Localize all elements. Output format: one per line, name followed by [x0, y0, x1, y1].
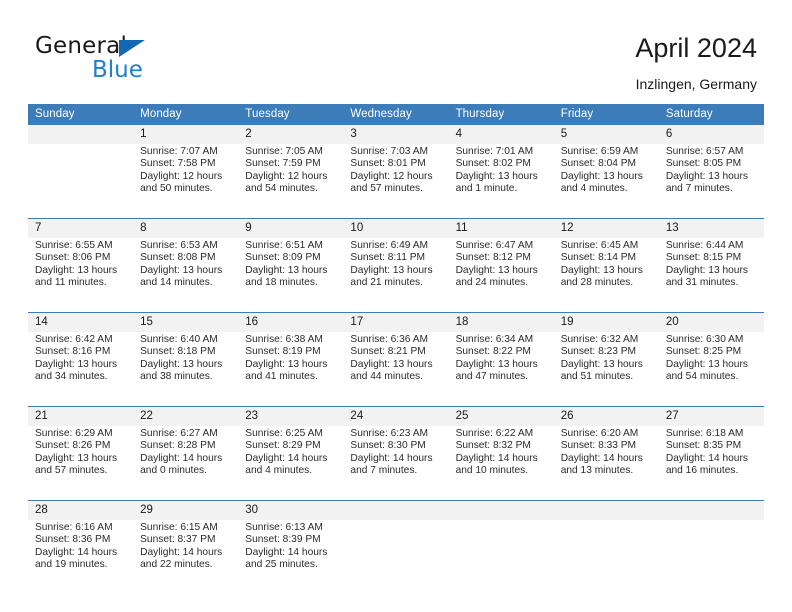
- sunset-text: Sunset: 8:37 PM: [140, 534, 234, 546]
- daylight-text-line1: Daylight: 13 hours: [561, 265, 655, 277]
- day-number-cell[interactable]: 15: [133, 313, 238, 333]
- daylight-text-line2: and 47 minutes.: [456, 371, 550, 383]
- day-number-cell[interactable]: 16: [238, 313, 343, 333]
- sunset-text: Sunset: 7:59 PM: [245, 158, 339, 170]
- daylight-text-line1: Daylight: 13 hours: [456, 359, 550, 371]
- week-info-row: Sunrise: 6:55 AM Sunset: 8:06 PM Dayligh…: [28, 238, 764, 313]
- sunset-text: Sunset: 8:01 PM: [350, 158, 444, 170]
- day-detail-cell: Sunrise: 6:57 AM Sunset: 8:05 PM Dayligh…: [659, 144, 764, 219]
- sunrise-text: Sunrise: 6:51 AM: [245, 240, 339, 252]
- day-number-cell[interactable]: 28: [28, 501, 133, 521]
- daylight-text-line1: Daylight: 13 hours: [666, 265, 760, 277]
- daylight-text-line2: and 7 minutes.: [666, 183, 760, 195]
- daylight-text-line1: Daylight: 13 hours: [350, 265, 444, 277]
- day-detail-cell: Sunrise: 6:27 AM Sunset: 8:28 PM Dayligh…: [133, 426, 238, 501]
- week-info-row: Sunrise: 6:16 AM Sunset: 8:36 PM Dayligh…: [28, 520, 764, 594]
- day-detail-cell: Sunrise: 6:49 AM Sunset: 8:11 PM Dayligh…: [343, 238, 448, 313]
- sunset-text: Sunset: 8:11 PM: [350, 252, 444, 264]
- daylight-text-line2: and 1 minute.: [456, 183, 550, 195]
- daylight-text-line1: Daylight: 14 hours: [140, 453, 234, 465]
- day-detail-cell: Sunrise: 6:30 AM Sunset: 8:25 PM Dayligh…: [659, 332, 764, 407]
- day-detail-cell: Sunrise: 6:32 AM Sunset: 8:23 PM Dayligh…: [554, 332, 659, 407]
- day-number-cell[interactable]: 5: [554, 125, 659, 144]
- day-detail-cell: Sunrise: 6:44 AM Sunset: 8:15 PM Dayligh…: [659, 238, 764, 313]
- sunrise-text: Sunrise: 6:40 AM: [140, 334, 234, 346]
- day-detail-cell: Sunrise: 6:16 AM Sunset: 8:36 PM Dayligh…: [28, 520, 133, 594]
- sunrise-text: Sunrise: 6:23 AM: [350, 428, 444, 440]
- daylight-text-line2: and 13 minutes.: [561, 465, 655, 477]
- daylight-text-line2: and 18 minutes.: [245, 277, 339, 289]
- weekday-header-monday: Monday: [133, 104, 238, 125]
- sunset-text: Sunset: 8:39 PM: [245, 534, 339, 546]
- daylight-text-line2: and 41 minutes.: [245, 371, 339, 383]
- day-number-cell[interactable]: 11: [449, 219, 554, 239]
- daylight-text-line2: and 38 minutes.: [140, 371, 234, 383]
- sunset-text: Sunset: 8:21 PM: [350, 346, 444, 358]
- daylight-text-line1: Daylight: 14 hours: [35, 547, 129, 559]
- day-number-cell[interactable]: 26: [554, 407, 659, 427]
- daylight-text-line2: and 14 minutes.: [140, 277, 234, 289]
- daylight-text-line2: and 31 minutes.: [666, 277, 760, 289]
- day-detail-cell: Sunrise: 6:15 AM Sunset: 8:37 PM Dayligh…: [133, 520, 238, 594]
- logo-triangle-icon: [119, 40, 145, 57]
- day-number-cell[interactable]: 27: [659, 407, 764, 427]
- sunset-text: Sunset: 8:09 PM: [245, 252, 339, 264]
- day-number-cell[interactable]: 8: [133, 219, 238, 239]
- day-detail-cell: Sunrise: 6:42 AM Sunset: 8:16 PM Dayligh…: [28, 332, 133, 407]
- calendar-header-row: Sunday Monday Tuesday Wednesday Thursday…: [28, 104, 764, 125]
- sunset-text: Sunset: 8:02 PM: [456, 158, 550, 170]
- day-number-cell[interactable]: 2: [238, 125, 343, 144]
- day-detail-cell: Sunrise: 7:07 AM Sunset: 7:58 PM Dayligh…: [133, 144, 238, 219]
- daylight-text-line1: Daylight: 14 hours: [245, 547, 339, 559]
- sunset-text: Sunset: 8:29 PM: [245, 440, 339, 452]
- daylight-text-line2: and 57 minutes.: [35, 465, 129, 477]
- daylight-text-line2: and 34 minutes.: [35, 371, 129, 383]
- day-detail-cell: Sunrise: 6:22 AM Sunset: 8:32 PM Dayligh…: [449, 426, 554, 501]
- daylight-text-line1: Daylight: 14 hours: [666, 453, 760, 465]
- day-number-cell[interactable]: 30: [238, 501, 343, 521]
- calendar-page: General Blue April 2024 Inzlingen, Germa…: [0, 0, 792, 612]
- daylight-text-line2: and 25 minutes.: [245, 559, 339, 571]
- daylight-text-line1: Daylight: 13 hours: [245, 359, 339, 371]
- daylight-text-line2: and 7 minutes.: [350, 465, 444, 477]
- week-info-row: Sunrise: 6:42 AM Sunset: 8:16 PM Dayligh…: [28, 332, 764, 407]
- sunset-text: Sunset: 8:12 PM: [456, 252, 550, 264]
- daylight-text-line1: Daylight: 12 hours: [350, 171, 444, 183]
- sunrise-text: Sunrise: 6:55 AM: [35, 240, 129, 252]
- daylight-text-line1: Daylight: 13 hours: [140, 265, 234, 277]
- daylight-text-line2: and 28 minutes.: [561, 277, 655, 289]
- day-number-cell[interactable]: 6: [659, 125, 764, 144]
- sunrise-text: Sunrise: 6:34 AM: [456, 334, 550, 346]
- day-number-cell[interactable]: 19: [554, 313, 659, 333]
- sunrise-text: Sunrise: 6:38 AM: [245, 334, 339, 346]
- daylight-text-line2: and 11 minutes.: [35, 277, 129, 289]
- sunset-text: Sunset: 8:32 PM: [456, 440, 550, 452]
- weekday-header-tuesday: Tuesday: [238, 104, 343, 125]
- daylight-text-line1: Daylight: 14 hours: [245, 453, 339, 465]
- day-detail-cell: Sunrise: 6:23 AM Sunset: 8:30 PM Dayligh…: [343, 426, 448, 501]
- sunrise-text: Sunrise: 6:42 AM: [35, 334, 129, 346]
- sunrise-text: Sunrise: 6:32 AM: [561, 334, 655, 346]
- daylight-text-line2: and 10 minutes.: [456, 465, 550, 477]
- day-detail-cell: Sunrise: 7:03 AM Sunset: 8:01 PM Dayligh…: [343, 144, 448, 219]
- sunset-text: Sunset: 8:28 PM: [140, 440, 234, 452]
- daylight-text-line2: and 4 minutes.: [561, 183, 655, 195]
- sunset-text: Sunset: 8:14 PM: [561, 252, 655, 264]
- daylight-text-line2: and 44 minutes.: [350, 371, 444, 383]
- daylight-text-line1: Daylight: 13 hours: [456, 265, 550, 277]
- daylight-text-line1: Daylight: 12 hours: [245, 171, 339, 183]
- day-detail-cell: Sunrise: 6:34 AM Sunset: 8:22 PM Dayligh…: [449, 332, 554, 407]
- daylight-text-line2: and 57 minutes.: [350, 183, 444, 195]
- generalblue-logo[interactable]: General Blue: [35, 33, 255, 85]
- sunset-text: Sunset: 8:05 PM: [666, 158, 760, 170]
- daylight-text-line2: and 54 minutes.: [245, 183, 339, 195]
- weekday-header-wednesday: Wednesday: [343, 104, 448, 125]
- daylight-text-line1: Daylight: 13 hours: [35, 359, 129, 371]
- day-detail-cell: Sunrise: 6:59 AM Sunset: 8:04 PM Dayligh…: [554, 144, 659, 219]
- sunset-text: Sunset: 8:08 PM: [140, 252, 234, 264]
- day-number-cell[interactable]: 22: [133, 407, 238, 427]
- sunrise-text: Sunrise: 6:44 AM: [666, 240, 760, 252]
- sunrise-text: Sunrise: 6:59 AM: [561, 146, 655, 158]
- day-number-cell[interactable]: 17: [343, 313, 448, 333]
- day-number-cell[interactable]: 7: [28, 219, 133, 239]
- day-detail-cell: Sunrise: 7:05 AM Sunset: 7:59 PM Dayligh…: [238, 144, 343, 219]
- day-number-cell[interactable]: [554, 501, 659, 521]
- daylight-text-line1: Daylight: 13 hours: [666, 171, 760, 183]
- day-number-cell[interactable]: 13: [659, 219, 764, 239]
- day-detail-cell: [554, 520, 659, 594]
- day-detail-cell: Sunrise: 6:25 AM Sunset: 8:29 PM Dayligh…: [238, 426, 343, 501]
- daylight-text-line1: Daylight: 13 hours: [35, 453, 129, 465]
- week-date-row: 21 22 23 24 25 26 27: [28, 407, 764, 427]
- sunrise-text: Sunrise: 6:47 AM: [456, 240, 550, 252]
- daylight-text-line2: and 54 minutes.: [666, 371, 760, 383]
- calendar-body: 1 2 3 4 5 6 Sunrise: 7:07 AM Sunset: 7:5…: [28, 125, 764, 594]
- sunrise-text: Sunrise: 7:07 AM: [140, 146, 234, 158]
- sunrise-text: Sunrise: 7:05 AM: [245, 146, 339, 158]
- day-detail-cell: [659, 520, 764, 594]
- logo-text-general: General: [35, 33, 127, 59]
- day-number-cell[interactable]: [343, 501, 448, 521]
- daylight-text-line2: and 21 minutes.: [350, 277, 444, 289]
- sunrise-text: Sunrise: 6:36 AM: [350, 334, 444, 346]
- day-number-cell[interactable]: 23: [238, 407, 343, 427]
- sunset-text: Sunset: 7:58 PM: [140, 158, 234, 170]
- day-number-cell[interactable]: 14: [28, 313, 133, 333]
- sunrise-text: Sunrise: 6:22 AM: [456, 428, 550, 440]
- day-number-cell[interactable]: 18: [449, 313, 554, 333]
- day-detail-cell: Sunrise: 6:53 AM Sunset: 8:08 PM Dayligh…: [133, 238, 238, 313]
- daylight-text-line1: Daylight: 14 hours: [140, 547, 234, 559]
- day-detail-cell: [343, 520, 448, 594]
- daylight-text-line1: Daylight: 14 hours: [350, 453, 444, 465]
- day-detail-cell: Sunrise: 7:01 AM Sunset: 8:02 PM Dayligh…: [449, 144, 554, 219]
- sunrise-text: Sunrise: 6:18 AM: [666, 428, 760, 440]
- day-detail-cell: Sunrise: 6:45 AM Sunset: 8:14 PM Dayligh…: [554, 238, 659, 313]
- week-date-row: 7 8 9 10 11 12 13: [28, 219, 764, 239]
- day-number-cell[interactable]: 29: [133, 501, 238, 521]
- sunset-text: Sunset: 8:15 PM: [666, 252, 760, 264]
- sunset-text: Sunset: 8:19 PM: [245, 346, 339, 358]
- sunrise-text: Sunrise: 6:25 AM: [245, 428, 339, 440]
- sunset-text: Sunset: 8:33 PM: [561, 440, 655, 452]
- daylight-text-line1: Daylight: 14 hours: [561, 453, 655, 465]
- day-detail-cell: Sunrise: 6:38 AM Sunset: 8:19 PM Dayligh…: [238, 332, 343, 407]
- day-detail-cell: Sunrise: 6:29 AM Sunset: 8:26 PM Dayligh…: [28, 426, 133, 501]
- sunset-text: Sunset: 8:04 PM: [561, 158, 655, 170]
- sunrise-text: Sunrise: 6:15 AM: [140, 522, 234, 534]
- weekday-header-friday: Friday: [554, 104, 659, 125]
- sunset-text: Sunset: 8:26 PM: [35, 440, 129, 452]
- day-number-cell[interactable]: [659, 501, 764, 521]
- week-date-row: 1 2 3 4 5 6: [28, 125, 764, 144]
- daylight-text-line1: Daylight: 13 hours: [35, 265, 129, 277]
- sunrise-text: Sunrise: 6:30 AM: [666, 334, 760, 346]
- sunset-text: Sunset: 8:16 PM: [35, 346, 129, 358]
- page-subtitle-location: Inzlingen, Germany: [636, 76, 757, 92]
- daylight-text-line2: and 22 minutes.: [140, 559, 234, 571]
- day-number-cell[interactable]: 12: [554, 219, 659, 239]
- day-number-cell[interactable]: 10: [343, 219, 448, 239]
- sunrise-text: Sunrise: 6:16 AM: [35, 522, 129, 534]
- day-number-cell[interactable]: 20: [659, 313, 764, 333]
- logo-text-blue: Blue: [92, 57, 143, 83]
- daylight-text-line2: and 50 minutes.: [140, 183, 234, 195]
- daylight-text-line2: and 0 minutes.: [140, 465, 234, 477]
- day-number-cell[interactable]: 1: [133, 125, 238, 144]
- week-info-row: Sunrise: 7:07 AM Sunset: 7:58 PM Dayligh…: [28, 144, 764, 219]
- page-header: General Blue April 2024 Inzlingen, Germa…: [0, 0, 792, 104]
- daylight-text-line1: Daylight: 13 hours: [456, 171, 550, 183]
- daylight-text-line2: and 51 minutes.: [561, 371, 655, 383]
- weekday-header-thursday: Thursday: [449, 104, 554, 125]
- daylight-text-line2: and 4 minutes.: [245, 465, 339, 477]
- day-number-cell[interactable]: 3: [343, 125, 448, 144]
- sunrise-text: Sunrise: 6:27 AM: [140, 428, 234, 440]
- sunrise-text: Sunrise: 6:29 AM: [35, 428, 129, 440]
- week-info-row: Sunrise: 6:29 AM Sunset: 8:26 PM Dayligh…: [28, 426, 764, 501]
- day-detail-cell: [28, 144, 133, 219]
- sunrise-text: Sunrise: 6:20 AM: [561, 428, 655, 440]
- day-detail-cell: Sunrise: 6:20 AM Sunset: 8:33 PM Dayligh…: [554, 426, 659, 501]
- calendar-table: Sunday Monday Tuesday Wednesday Thursday…: [28, 104, 764, 594]
- page-title: April 2024: [635, 33, 757, 64]
- daylight-text-line1: Daylight: 13 hours: [666, 359, 760, 371]
- sunset-text: Sunset: 8:22 PM: [456, 346, 550, 358]
- day-number-cell[interactable]: 25: [449, 407, 554, 427]
- daylight-text-line1: Daylight: 14 hours: [456, 453, 550, 465]
- daylight-text-line1: Daylight: 13 hours: [561, 171, 655, 183]
- sunset-text: Sunset: 8:30 PM: [350, 440, 444, 452]
- day-number-cell[interactable]: [449, 501, 554, 521]
- daylight-text-line1: Daylight: 13 hours: [561, 359, 655, 371]
- sunrise-text: Sunrise: 6:57 AM: [666, 146, 760, 158]
- weekday-header-sunday: Sunday: [28, 104, 133, 125]
- day-detail-cell: Sunrise: 6:36 AM Sunset: 8:21 PM Dayligh…: [343, 332, 448, 407]
- daylight-text-line2: and 24 minutes.: [456, 277, 550, 289]
- daylight-text-line2: and 16 minutes.: [666, 465, 760, 477]
- day-detail-cell: Sunrise: 6:13 AM Sunset: 8:39 PM Dayligh…: [238, 520, 343, 594]
- sunrise-text: Sunrise: 6:49 AM: [350, 240, 444, 252]
- week-date-row: 28 29 30: [28, 501, 764, 521]
- daylight-text-line1: Daylight: 13 hours: [350, 359, 444, 371]
- day-detail-cell: Sunrise: 6:18 AM Sunset: 8:35 PM Dayligh…: [659, 426, 764, 501]
- sunset-text: Sunset: 8:18 PM: [140, 346, 234, 358]
- sunrise-text: Sunrise: 6:13 AM: [245, 522, 339, 534]
- day-number-cell[interactable]: 24: [343, 407, 448, 427]
- day-detail-cell: Sunrise: 6:40 AM Sunset: 8:18 PM Dayligh…: [133, 332, 238, 407]
- daylight-text-line1: Daylight: 13 hours: [140, 359, 234, 371]
- day-detail-cell: Sunrise: 6:55 AM Sunset: 8:06 PM Dayligh…: [28, 238, 133, 313]
- day-detail-cell: [449, 520, 554, 594]
- sunset-text: Sunset: 8:23 PM: [561, 346, 655, 358]
- day-number-cell[interactable]: [28, 125, 133, 144]
- sunrise-text: Sunrise: 7:03 AM: [350, 146, 444, 158]
- day-detail-cell: Sunrise: 6:47 AM Sunset: 8:12 PM Dayligh…: [449, 238, 554, 313]
- daylight-text-line2: and 19 minutes.: [35, 559, 129, 571]
- sunset-text: Sunset: 8:36 PM: [35, 534, 129, 546]
- sunset-text: Sunset: 8:25 PM: [666, 346, 760, 358]
- sunrise-text: Sunrise: 6:53 AM: [140, 240, 234, 252]
- week-date-row: 14 15 16 17 18 19 20: [28, 313, 764, 333]
- sunset-text: Sunset: 8:35 PM: [666, 440, 760, 452]
- calendar-grid: Sunday Monday Tuesday Wednesday Thursday…: [28, 104, 764, 594]
- sunrise-text: Sunrise: 6:45 AM: [561, 240, 655, 252]
- day-number-cell[interactable]: 9: [238, 219, 343, 239]
- daylight-text-line1: Daylight: 12 hours: [140, 171, 234, 183]
- sunrise-text: Sunrise: 7:01 AM: [456, 146, 550, 158]
- sunset-text: Sunset: 8:06 PM: [35, 252, 129, 264]
- day-detail-cell: Sunrise: 6:51 AM Sunset: 8:09 PM Dayligh…: [238, 238, 343, 313]
- daylight-text-line1: Daylight: 13 hours: [245, 265, 339, 277]
- day-number-cell[interactable]: 4: [449, 125, 554, 144]
- weekday-header-saturday: Saturday: [659, 104, 764, 125]
- day-number-cell[interactable]: 21: [28, 407, 133, 427]
